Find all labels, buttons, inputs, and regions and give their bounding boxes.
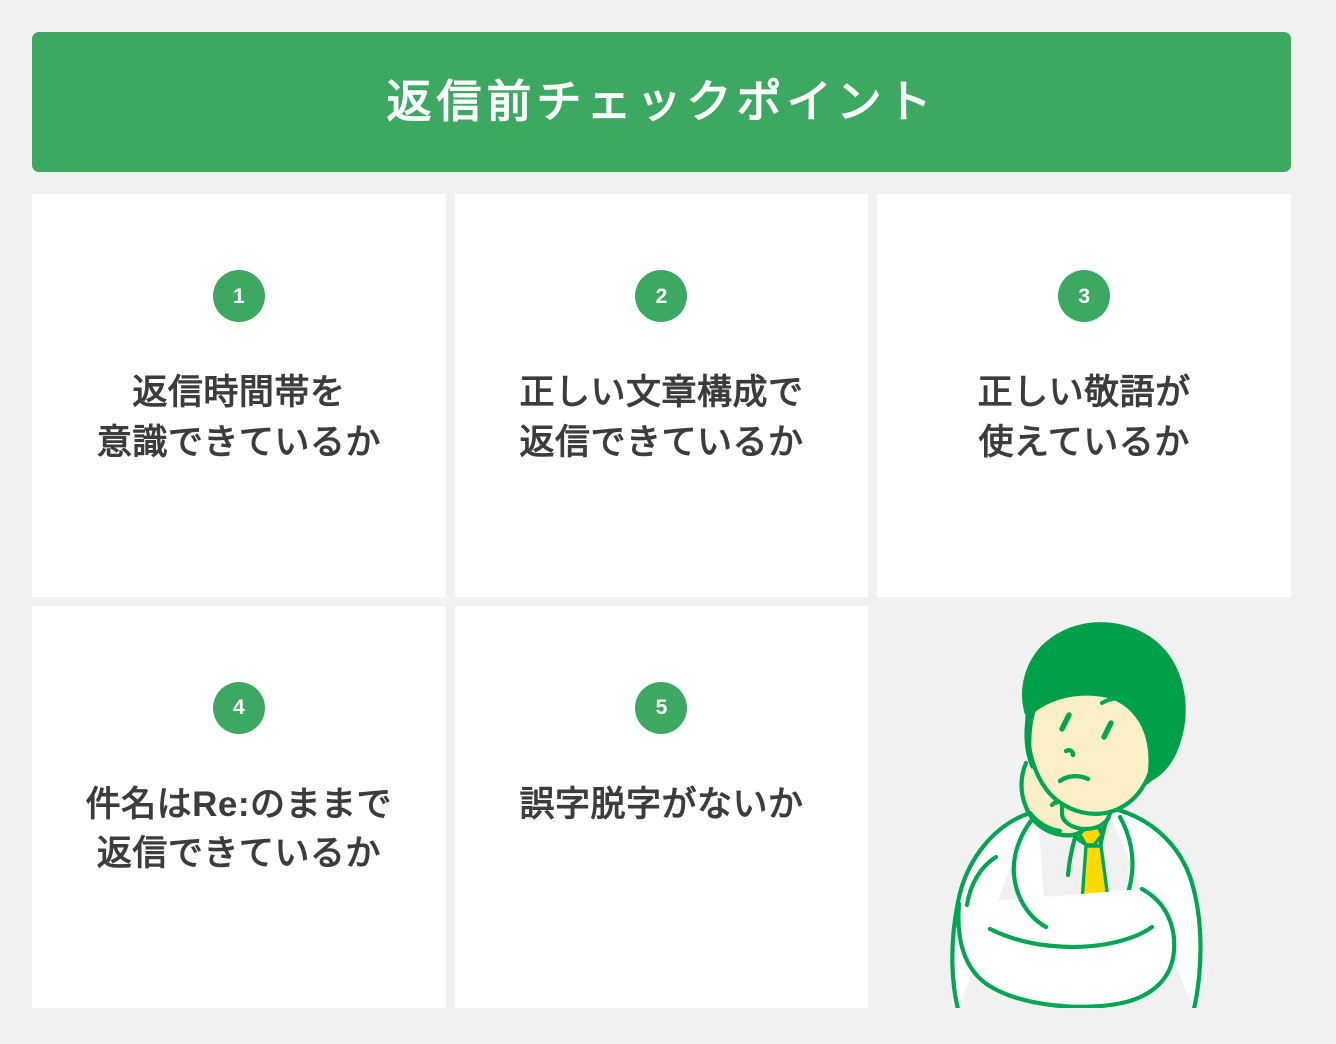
checklist-label-3: 正しい敬語が 使えているか	[978, 368, 1191, 467]
number-badge-3: 3	[1058, 270, 1110, 322]
checklist-card-4: 4 件名はRe:のままで 返信できているか	[32, 606, 446, 1009]
checklist-card-1: 1 返信時間帯を 意識できているか	[32, 194, 446, 597]
number-badge-1: 1	[213, 270, 265, 322]
page-title: 返信前チェックポイント	[386, 77, 936, 127]
checklist-card-3: 3 正しい敬語が 使えているか	[877, 194, 1291, 597]
thinking-businessman-illustration	[934, 617, 1234, 1008]
checklist-label-1: 返信時間帯を 意識できているか	[97, 368, 381, 467]
illustration-cell	[877, 606, 1291, 1009]
header-band: 返信前チェックポイント	[32, 32, 1291, 172]
checklist-label-5: 誤字脱字がないか	[519, 780, 803, 830]
checklist-label-4: 件名はRe:のままで 返信できているか	[86, 780, 392, 879]
checklist-label-2: 正しい文章構成で 返信できているか	[519, 368, 803, 467]
number-badge-2: 2	[635, 270, 687, 322]
checklist-grid: 1 返信時間帯を 意識できているか 2 正しい文章構成で 返信できているか 3 …	[32, 194, 1291, 1008]
number-badge-4: 4	[213, 682, 265, 734]
number-badge-5: 5	[635, 682, 687, 734]
checklist-card-5: 5 誤字脱字がないか	[455, 606, 869, 1009]
checklist-infographic: 返信前チェックポイント 1 返信時間帯を 意識できているか 2 正しい文章構成で…	[0, 0, 1336, 1044]
checklist-card-2: 2 正しい文章構成で 返信できているか	[455, 194, 869, 597]
